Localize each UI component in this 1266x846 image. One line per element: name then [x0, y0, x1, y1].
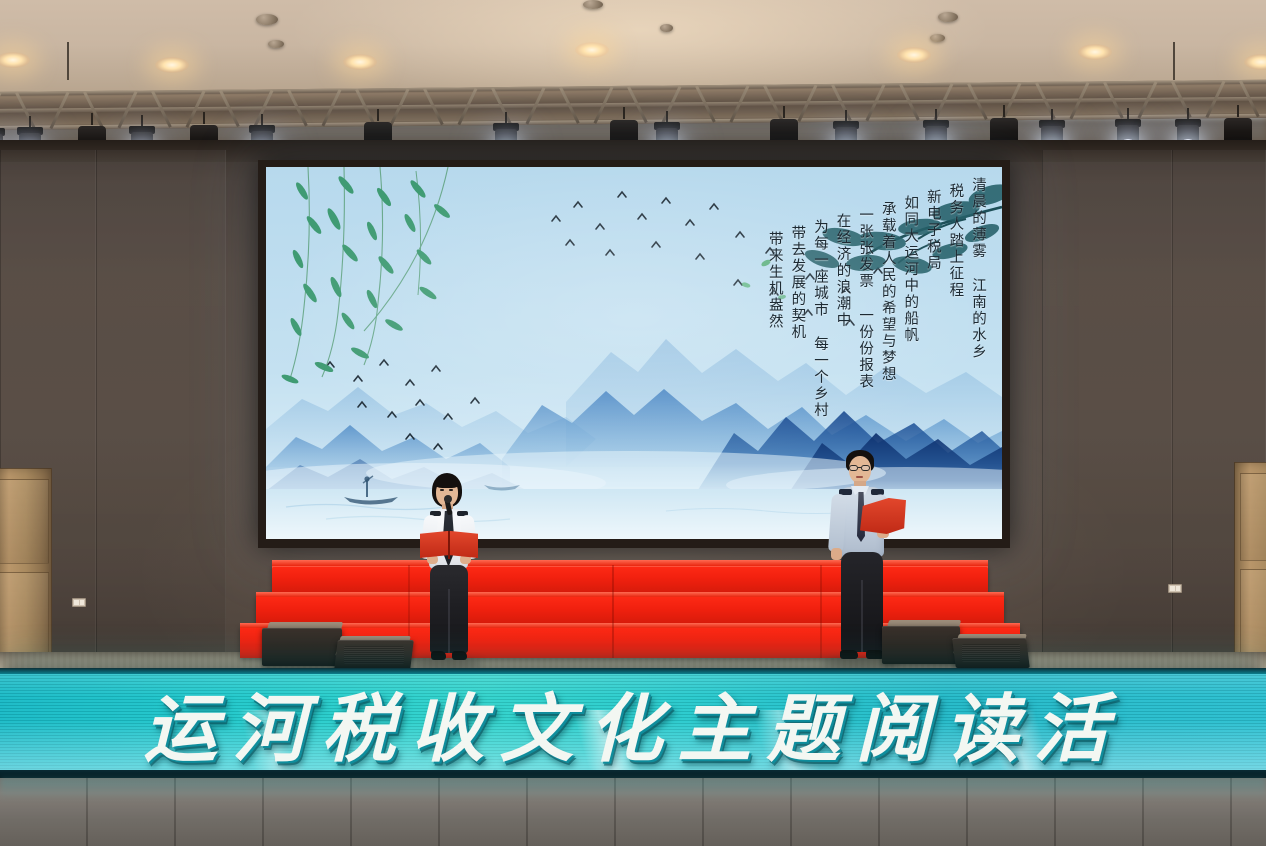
performer-left — [402, 473, 498, 668]
poem-column: 在经济的浪潮中 — [832, 213, 853, 329]
auditorium-stage-scene: 清晨的薄雾 江南的水乡 税务人踏上征程 新电子税局 如同大运河中的船帆 承载着人… — [0, 0, 1266, 846]
hand — [831, 548, 842, 560]
wall-outlet — [72, 598, 86, 607]
banner-bottom-edge — [0, 770, 1266, 778]
wall-panel — [1042, 150, 1172, 670]
side-door-right[interactable] — [1234, 462, 1266, 668]
foreground-banner-reflection — [0, 778, 1266, 800]
riser-seam — [612, 565, 614, 658]
eyes — [449, 489, 453, 491]
poem-column: 一张张发票 一份份报表 — [855, 207, 876, 390]
poem-column: 承载着人民的希望与梦想 — [877, 201, 898, 383]
poem-column: 如同大运河中的船帆 — [900, 195, 921, 344]
folder-spine — [448, 531, 450, 559]
poem-column: 新电子税局 — [922, 189, 943, 272]
led-display[interactable]: 清晨的薄雾 江南的水乡 税务人踏上征程 新电子税局 如同大运河中的船帆 承载着人… — [266, 167, 1002, 539]
led-display-frame: 清晨的薄雾 江南的水乡 税务人踏上征程 新电子税局 如同大运河中的船帆 承载着人… — [258, 160, 1010, 548]
led-banner[interactable]: 运河税收文化主题阅读活 — [0, 668, 1266, 778]
shoe — [431, 651, 446, 660]
banner-title-text: 运河税收文化主题阅读活 — [144, 670, 1123, 777]
microphone-head — [444, 495, 452, 503]
poem-column: 清晨的薄雾 江南的水乡 — [967, 177, 988, 360]
poem-column: 为每一座城市 每一个乡村 — [809, 219, 830, 419]
hair-fringe — [435, 477, 459, 488]
wall-panel — [96, 150, 226, 670]
poem-column: 税务人踏上征程 — [945, 183, 966, 299]
shoe — [840, 650, 858, 659]
side-door-left[interactable] — [0, 468, 52, 668]
eyes — [440, 489, 444, 491]
performer-shadow — [410, 659, 482, 668]
trouser-gap — [861, 580, 863, 652]
shoe — [452, 651, 467, 660]
poem-column: 带来生机盎然 — [764, 231, 785, 330]
poem-column: 带去发展的契机 — [787, 225, 808, 341]
wall-outlet — [1168, 584, 1182, 593]
trouser-gap — [448, 589, 450, 653]
poem-text-block: 清晨的薄雾 江南的水乡 税务人踏上征程 新电子税局 如同大运河中的船帆 承载着人… — [764, 175, 988, 528]
